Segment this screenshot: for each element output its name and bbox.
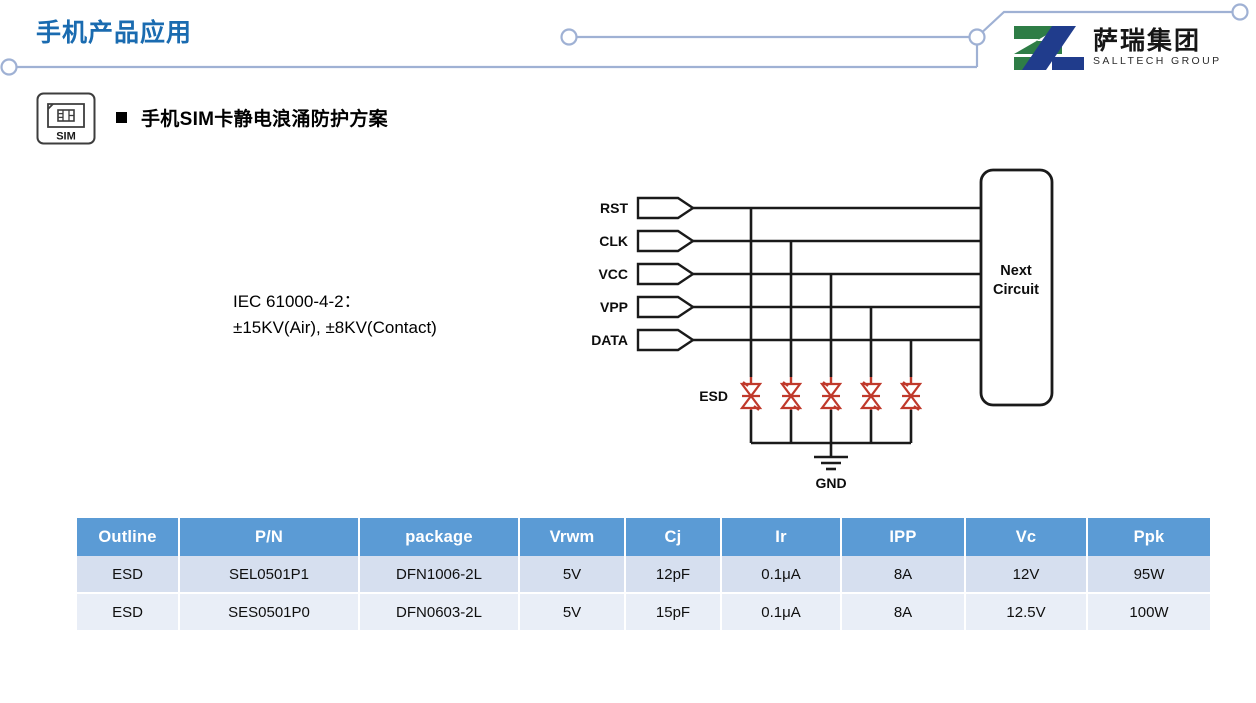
cell-ppk: 95W (1087, 556, 1210, 593)
cell-cj: 12pF (625, 556, 721, 593)
slide-canvas: 手机产品应用 萨瑞集团 SALLTECH GROUP SIM (0, 0, 1256, 703)
column-header-cj: Cj (625, 518, 721, 556)
cell-vrwm: 5V (519, 593, 625, 630)
company-logo: 萨瑞集团 SALLTECH GROUP (1012, 22, 1222, 74)
column-header-ir: Ir (721, 518, 841, 556)
connector-arrow-clk (638, 231, 693, 251)
cell-cj: 15pF (625, 593, 721, 630)
signal-label-vcc: VCC (598, 266, 628, 282)
cell-pn: SES0501P0 (179, 593, 359, 630)
cell-package: DFN0603-2L (359, 593, 519, 630)
esd-label: ESD (699, 388, 728, 404)
cell-pn: SEL0501P1 (179, 556, 359, 593)
iec-standard-note: IEC 61000-4-2： ±15KV(Air), ±8KV(Contact) (233, 289, 437, 342)
connector-arrow-vpp (638, 297, 693, 317)
table-header-row: Outline P/N package Vrwm Cj Ir IPP Vc Pp… (77, 518, 1210, 556)
cell-vrwm: 5V (519, 556, 625, 593)
column-header-outline: Outline (77, 518, 179, 556)
cell-vc: 12V (965, 556, 1087, 593)
cell-ipp: 8A (841, 556, 965, 593)
esd-protection-circuit-diagram: RST CLK VCC VPP DATA (560, 160, 1080, 505)
logo-english-name: SALLTECH GROUP (1093, 55, 1222, 68)
sim-card-icon: SIM (36, 92, 96, 145)
specification-table: Outline P/N package Vrwm Cj Ir IPP Vc Pp… (77, 518, 1210, 630)
signal-label-vpp: VPP (600, 299, 628, 315)
next-circuit-block: Next Circuit (981, 170, 1052, 405)
cell-ipp: 8A (841, 593, 965, 630)
circle-node-icon (1233, 5, 1248, 20)
iec-note-line-1: IEC 61000-4-2： (233, 289, 437, 315)
cell-ir: 0.1μA (721, 556, 841, 593)
esd-diode (742, 382, 760, 410)
circle-node-icon (562, 30, 577, 45)
signal-label-rst: RST (600, 200, 628, 216)
iec-note-line-2: ±15KV(Air), ±8KV(Contact) (233, 315, 437, 341)
cell-ir: 0.1μA (721, 593, 841, 630)
square-bullet-icon (116, 112, 127, 123)
column-header-vrwm: Vrwm (519, 518, 625, 556)
connector-arrow-data (638, 330, 693, 350)
salltech-logo-mark-icon (1012, 24, 1086, 72)
circle-node-icon (970, 30, 985, 45)
page-title: 手机产品应用 (36, 13, 192, 49)
gnd-label: GND (815, 475, 846, 491)
esd-diode (822, 382, 840, 410)
next-circuit-label-1: Next (1000, 263, 1032, 279)
signal-label-clk: CLK (599, 233, 628, 249)
column-header-package: package (359, 518, 519, 556)
signal-label-data: DATA (591, 332, 628, 348)
section-heading-label: 手机SIM卡静电浪涌防护方案 (141, 104, 388, 131)
esd-diode (902, 382, 920, 410)
connector-arrow-vcc (638, 264, 693, 284)
sim-icon-label: SIM (56, 131, 76, 143)
connector-arrow-rst (638, 198, 693, 218)
logo-chinese-name: 萨瑞集团 (1093, 28, 1222, 54)
table-row: ESD SES0501P0 DFN0603-2L 5V 15pF 0.1μA 8… (77, 593, 1210, 630)
column-header-vc: Vc (965, 518, 1087, 556)
esd-diode (782, 382, 800, 410)
cell-outline: ESD (77, 556, 179, 593)
column-header-pn: P/N (179, 518, 359, 556)
column-header-ipp: IPP (841, 518, 965, 556)
section-heading: 手机SIM卡静电浪涌防护方案 (116, 104, 388, 131)
esd-diode (862, 382, 880, 410)
cell-ppk: 100W (1087, 593, 1210, 630)
column-header-ppk: Ppk (1087, 518, 1210, 556)
cell-outline: ESD (77, 593, 179, 630)
cell-vc: 12.5V (965, 593, 1087, 630)
next-circuit-label-2: Circuit (993, 282, 1039, 298)
ground-icon (814, 457, 848, 469)
esd-diode-group (742, 382, 920, 410)
circle-node-icon (2, 60, 17, 75)
table-row: ESD SEL0501P1 DFN1006-2L 5V 12pF 0.1μA 8… (77, 556, 1210, 593)
cell-package: DFN1006-2L (359, 556, 519, 593)
